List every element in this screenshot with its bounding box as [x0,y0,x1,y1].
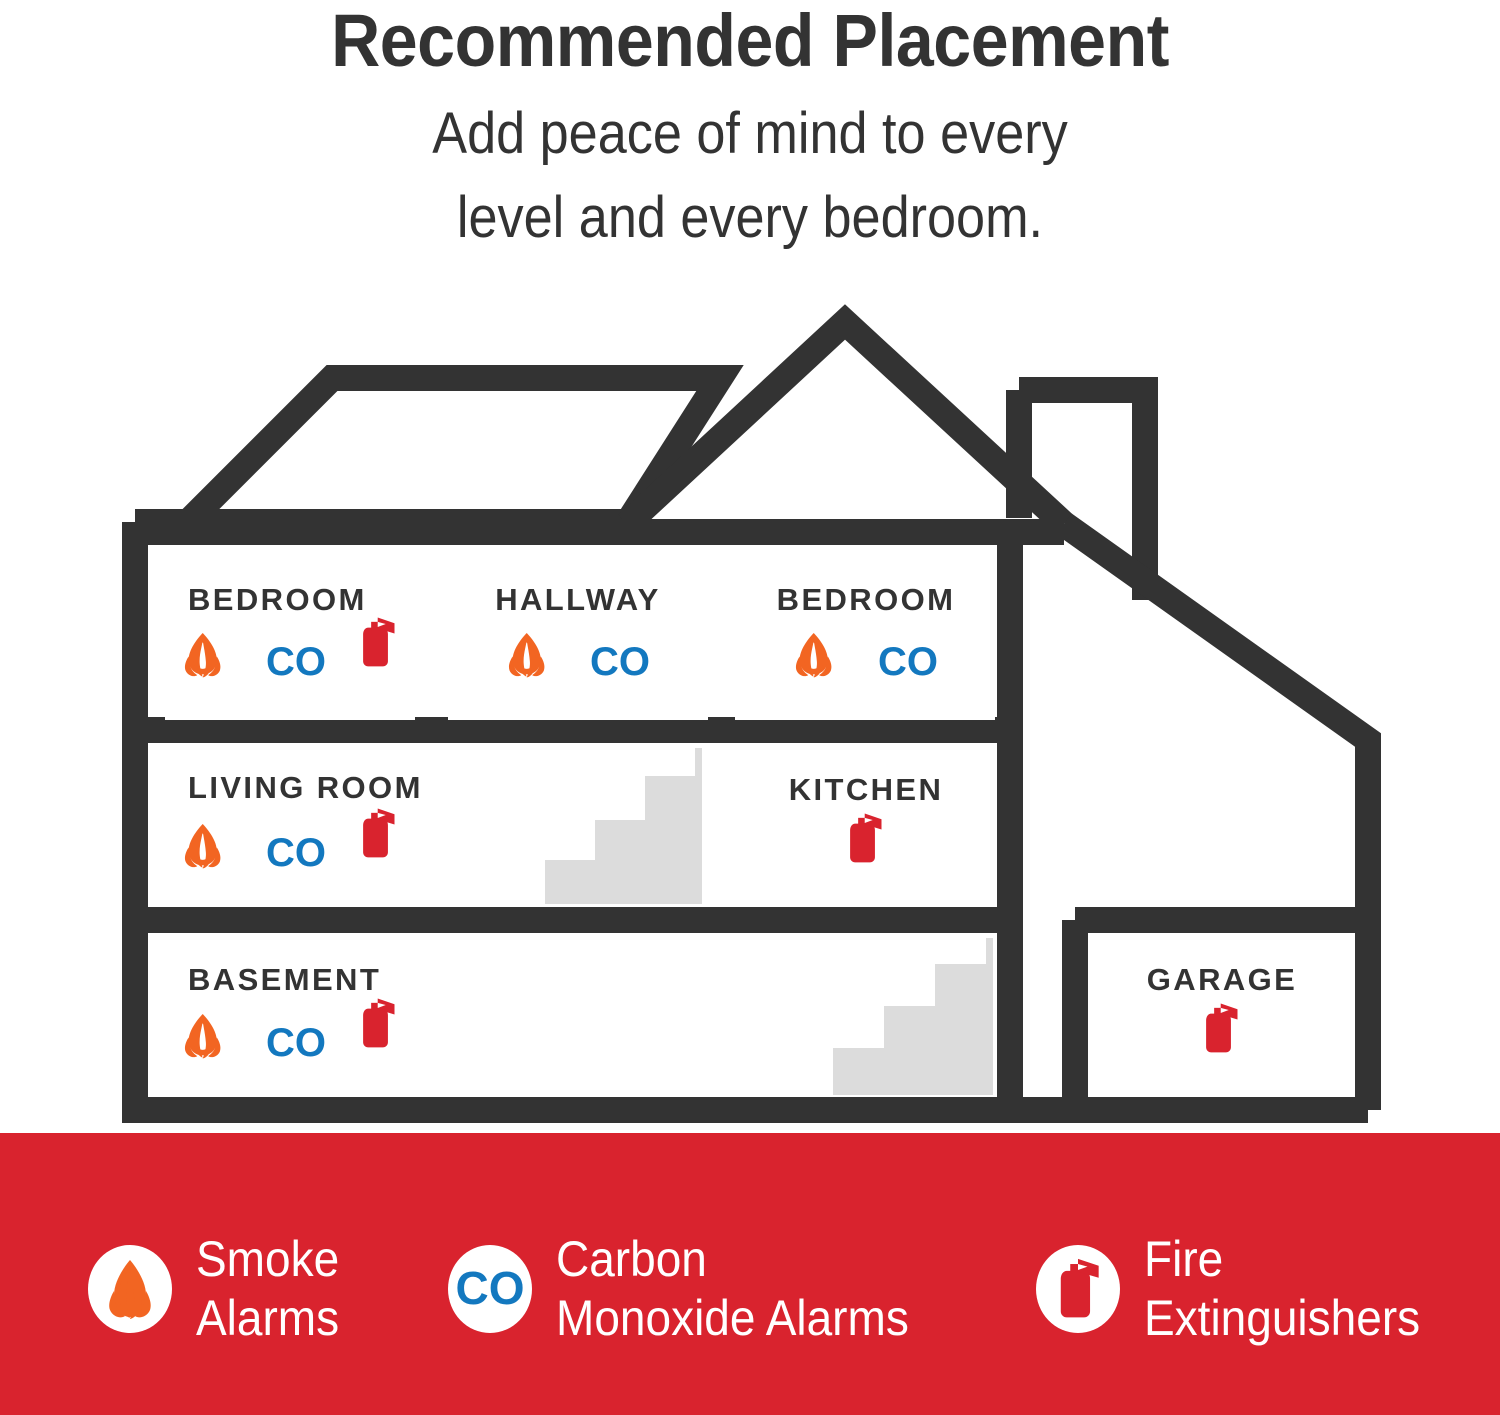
legend-label: Smoke Alarms [196,1230,339,1348]
legend-bar: Smoke Alarms CO Carbon Monoxide Alarms [0,1133,1500,1415]
room-label: BEDROOM [188,582,367,617]
room-bedroom-right[interactable]: BEDROOM CO [735,557,995,720]
legend-label-line-1: Fire [1144,1230,1420,1289]
co-symbol: CO [456,1264,525,1314]
legend-label-line-2: Alarms [196,1289,339,1348]
room-basement[interactable]: BASEMENT CO [165,942,993,1094]
room-label: BEDROOM [777,582,956,617]
fire-extinguisher-icon [1055,1258,1101,1320]
roof [188,322,1064,524]
page-title: Recommended Placement [60,0,1440,80]
subtitle-line-2: level and every bedroom. [75,176,1425,260]
infographic-page: Recommended Placement Add peace of mind … [0,0,1500,1415]
legend-item-fire-extinguishers[interactable]: Fire Extinguishers [1036,1230,1444,1348]
flame-icon [105,1258,155,1320]
header: Recommended Placement Add peace of mind … [0,0,1500,300]
legend-item-co-alarms[interactable]: CO Carbon Monoxide Alarms [448,1230,940,1348]
room-label: LIVING ROOM [188,770,423,805]
room-kitchen[interactable]: KITCHEN [735,752,995,904]
subtitle-line-1: Add peace of mind to every [75,92,1425,176]
co-alarm-icon: CO [266,831,326,875]
co-alarm-icon: CO [590,640,650,684]
legend-circle [88,1245,172,1333]
legend-label-line-1: Smoke [196,1230,339,1289]
legend-circle [1036,1245,1120,1333]
room-bedroom-left[interactable]: BEDROOM CO [165,557,415,720]
legend-label-line-2: Monoxide Alarms [556,1289,909,1348]
co-icon: CO [455,1264,525,1314]
legend-label: Carbon Monoxide Alarms [556,1230,909,1348]
legend-label-line-2: Extinguishers [1144,1289,1420,1348]
legend-items-container: Smoke Alarms CO Carbon Monoxide Alarms [0,1133,1500,1415]
legend-item-smoke-alarms[interactable]: Smoke Alarms [88,1230,352,1348]
legend-label: Fire Extinguishers [1144,1230,1420,1348]
co-alarm-icon: CO [266,640,326,684]
room-label: BASEMENT [188,962,381,997]
room-living-room[interactable]: LIVING ROOM CO [165,752,702,904]
page-subtitle: Add peace of mind to every level and eve… [75,80,1425,260]
house-cutaway-diagram: BEDROOM CO HALLWAY CO [0,300,1500,1135]
room-garage[interactable]: GARAGE [1106,942,1338,1094]
co-alarm-icon: CO [878,640,938,684]
room-label: HALLWAY [495,582,661,617]
room-hallway[interactable]: HALLWAY CO [448,557,708,720]
legend-circle: CO [448,1245,532,1333]
legend-label-line-1: Carbon [556,1230,909,1289]
co-alarm-icon: CO [266,1021,326,1065]
room-label: KITCHEN [789,772,944,807]
room-label: GARAGE [1147,962,1297,997]
